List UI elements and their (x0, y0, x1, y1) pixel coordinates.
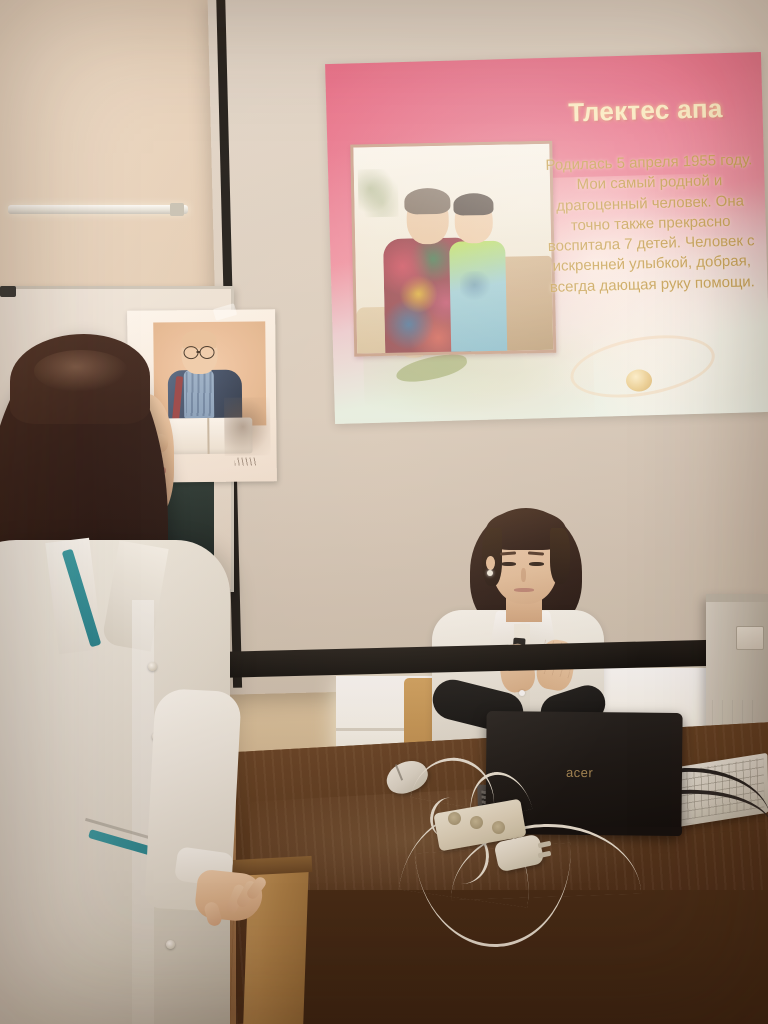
seated-woman-eye-left (501, 562, 516, 566)
slide-body-text: Родилась 5 апреля 1955 году. Мои самый р… (540, 150, 762, 298)
drawing-man-bald-top (182, 330, 216, 348)
seated-woman-mouth (514, 588, 534, 592)
fluorescent-tube-light-icon (8, 205, 188, 214)
slide-title: Тлектес апа (538, 94, 753, 127)
drawing-glasses-right-lens-icon (199, 346, 214, 359)
slide-embedded-photo (350, 141, 556, 357)
drawing-shading (224, 397, 271, 455)
lab-coat-button-1 (148, 662, 157, 671)
seated-woman-nose (521, 568, 526, 582)
drawing-signature (235, 457, 257, 465)
desktop-tower-top (706, 594, 768, 602)
drawing-shirt-stripes (186, 372, 212, 416)
seated-woman-ear (486, 556, 495, 570)
seated-woman-hair-side-right (550, 528, 570, 584)
drawing-book-spine (207, 418, 209, 454)
laptop-brand-logo: acer (566, 765, 593, 780)
photo-light-wash (353, 144, 553, 354)
seated-woman-earring (487, 570, 493, 576)
drawing-glasses-bridge (197, 351, 201, 353)
classroom-photo-scene: Тлектес апа Родилась 5 апреля 1955 году.… (0, 0, 768, 1024)
desktop-tower-drive-bay (736, 626, 764, 650)
lab-coat-button-5 (166, 940, 175, 949)
seated-woman-shirt-button-2 (519, 690, 525, 696)
standing-woman-hair-highlight (34, 350, 128, 392)
tube-light-cap (170, 203, 184, 216)
presentation-slide: Тлектес апа Родилась 5 апреля 1955 году.… (325, 52, 768, 424)
seated-woman-eye-right (529, 562, 544, 566)
whiteboard-corner-clip (0, 286, 16, 297)
